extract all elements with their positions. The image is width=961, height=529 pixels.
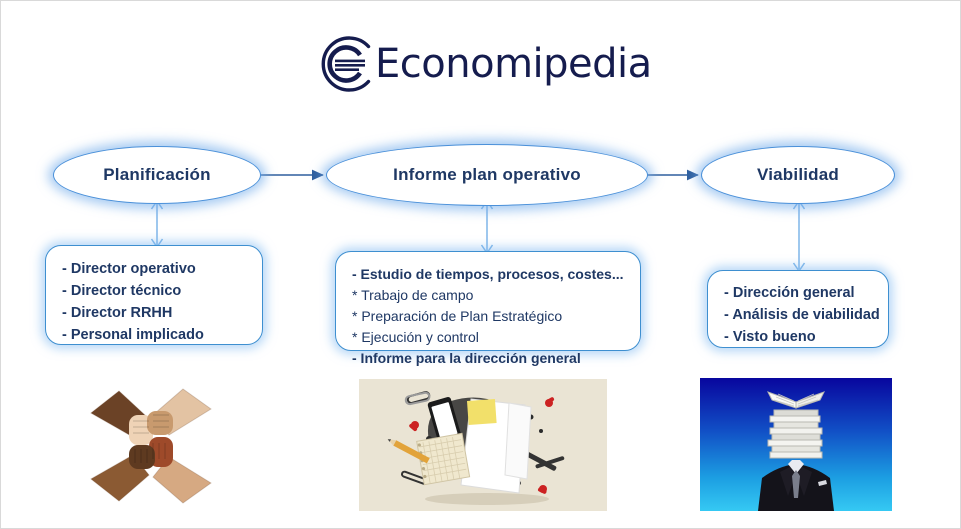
node-informe-plan-operativo[interactable]: Informe plan operativo xyxy=(326,144,648,206)
diagram-canvas: Economipedia Planificaci xyxy=(0,0,961,529)
arrow-right-icon-planificacion-to-informe xyxy=(257,161,335,189)
list-item: - Análisis de viabilidad xyxy=(724,304,872,326)
node-informe-label: Informe plan operativo xyxy=(393,165,581,185)
node-planificacion[interactable]: Planificación xyxy=(53,146,261,204)
economipedia-euro-circle-logo-icon xyxy=(313,30,381,98)
arrow-up-down-icon-informe xyxy=(476,197,498,257)
list-item: - Informe para la dirección general xyxy=(352,348,624,369)
node-viabilidad[interactable]: Viabilidad xyxy=(701,146,895,204)
panel-informe-plan-operativo: - Estudio de tiempos, procesos, costes..… xyxy=(335,251,641,351)
image-office-supplies-collage xyxy=(359,379,607,511)
list-item: * Trabajo de campo xyxy=(352,285,624,306)
arrow-up-down-icon-viabilidad xyxy=(788,197,810,275)
arrow-up-down-icon-planificacion xyxy=(146,197,168,251)
node-viabilidad-label: Viabilidad xyxy=(757,165,839,185)
list-item: - Director técnico xyxy=(62,280,246,302)
image-teamwork-hands xyxy=(89,379,213,511)
list-item: - Director RRHH xyxy=(62,302,246,324)
panel-planificacion: - Director operativo - Director técnico … xyxy=(45,245,263,345)
economipedia-logo: Economipedia xyxy=(313,27,573,101)
list-item: - Estudio de tiempos, procesos, costes..… xyxy=(352,264,624,285)
list-item: - Director operativo xyxy=(62,258,246,280)
list-item: - Visto bueno xyxy=(724,326,872,348)
list-item: - Dirección general xyxy=(724,282,872,304)
arrow-right-icon-informe-to-viabilidad xyxy=(642,161,710,189)
image-businessman-with-book-stack-head xyxy=(700,378,892,511)
list-item: - Personal implicado xyxy=(62,324,246,346)
list-item: * Ejecución y control xyxy=(352,327,624,348)
panel-viabilidad: - Dirección general - Análisis de viabil… xyxy=(707,270,889,348)
brand-name: Economipedia xyxy=(375,44,652,84)
node-planificacion-label: Planificación xyxy=(103,165,210,185)
list-item: * Preparación de Plan Estratégico xyxy=(352,306,624,327)
